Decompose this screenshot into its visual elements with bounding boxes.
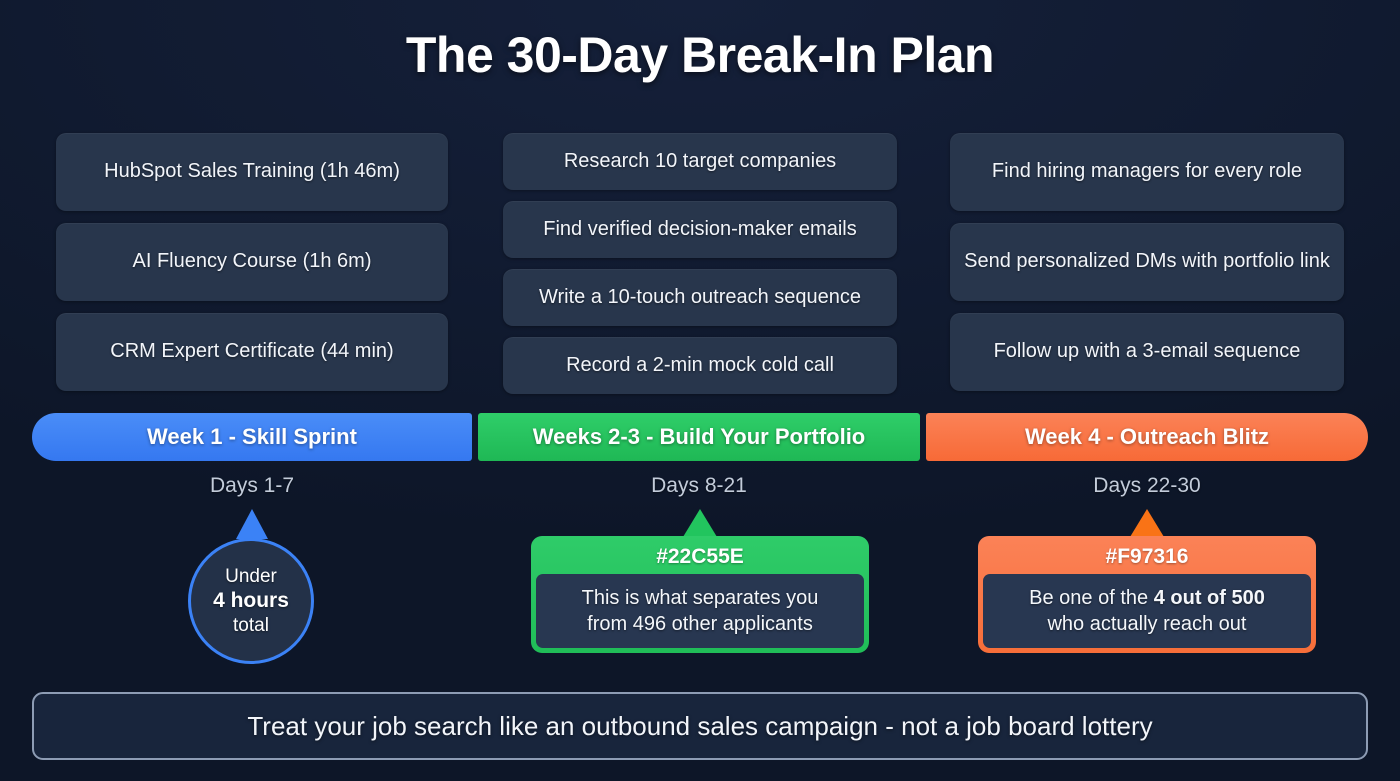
phase-bar-week-4[interactable]: Week 4 - Outreach Blitz	[926, 413, 1368, 461]
summary-banner: Treat your job search like an outbound s…	[32, 692, 1368, 760]
circle-badge-total-hours: Under 4 hours total	[188, 538, 314, 664]
callout-line-1-emphasis: 4 out of 500	[1154, 587, 1265, 609]
phase-days-weeks-2-3: Days 8-21	[478, 471, 920, 501]
task-column-weeks-2-3: Research 10 target companies Find verifi…	[503, 133, 897, 394]
task-card[interactable]: Send personalized DMs with portfolio lin…	[950, 223, 1344, 301]
task-card[interactable]: AI Fluency Course (1h 6m)	[56, 223, 448, 301]
page-title: The 30-Day Break-In Plan	[0, 26, 1400, 84]
task-column-week-4: Find hiring managers for every role Send…	[950, 133, 1344, 391]
phase-days-week-4: Days 22-30	[926, 471, 1368, 501]
triangle-pointer-icon	[1130, 509, 1164, 537]
callout-line-1: This is what separates you	[582, 587, 819, 609]
callout-line-2: from 496 other applicants	[587, 613, 813, 635]
callout-message: Be one of the 4 out of 500 who actually …	[983, 574, 1311, 648]
callout-week-1: Under 4 hours total	[188, 509, 316, 663]
phase-days-week-1: Days 1-7	[32, 471, 472, 501]
hex-color-label: #22C55E	[536, 540, 864, 574]
callout-line-2: who actually reach out	[1047, 613, 1246, 635]
task-card[interactable]: HubSpot Sales Training (1h 46m)	[56, 133, 448, 211]
task-card[interactable]: Find hiring managers for every role	[950, 133, 1344, 211]
task-card[interactable]: Follow up with a 3-email sequence	[950, 313, 1344, 391]
task-card[interactable]: CRM Expert Certificate (44 min)	[56, 313, 448, 391]
task-card[interactable]: Find verified decision-maker emails	[503, 201, 897, 258]
phase-bar-week-1[interactable]: Week 1 - Skill Sprint	[32, 413, 472, 461]
circle-line-2: 4 hours	[213, 588, 289, 614]
task-card[interactable]: Record a 2-min mock cold call	[503, 337, 897, 394]
phase-bar-weeks-2-3[interactable]: Weeks 2-3 - Build Your Portfolio	[478, 413, 920, 461]
task-card[interactable]: Research 10 target companies	[503, 133, 897, 190]
circle-line-3: total	[233, 614, 269, 637]
callout-body: #F97316 Be one of the 4 out of 500 who a…	[978, 536, 1316, 653]
task-column-week-1: HubSpot Sales Training (1h 46m) AI Fluen…	[56, 133, 448, 391]
callout-body: #22C55E This is what separates you from …	[531, 536, 869, 653]
hex-color-label: #F97316	[983, 540, 1311, 574]
callout-message: This is what separates you from 496 othe…	[536, 574, 864, 648]
callout-line-1-prefix: Be one of the	[1029, 587, 1154, 609]
task-card[interactable]: Write a 10-touch outreach sequence	[503, 269, 897, 326]
triangle-pointer-icon	[236, 509, 268, 539]
triangle-pointer-icon	[683, 509, 717, 537]
circle-line-1: Under	[225, 565, 277, 588]
infographic-canvas: The 30-Day Break-In Plan HubSpot Sales T…	[0, 0, 1400, 781]
